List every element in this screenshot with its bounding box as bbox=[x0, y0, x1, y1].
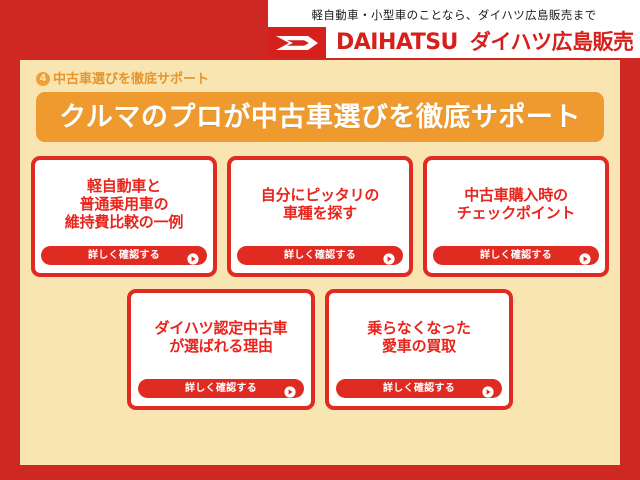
support-card[interactable]: 乗らなくなった 愛車の買取 詳しく確認する bbox=[325, 289, 513, 410]
support-card-title: 乗らなくなった 愛車の買取 bbox=[367, 297, 471, 377]
section-label-text: 中古車選びを徹底サポート bbox=[53, 73, 209, 86]
details-button-label: 詳しく確認する bbox=[383, 384, 455, 394]
brand-logo[interactable]: DAIHATSU ダイハツ広島販売 bbox=[268, 27, 640, 58]
play-circle-icon bbox=[482, 383, 494, 395]
play-circle-icon bbox=[187, 250, 199, 262]
support-card-title: 自分にピッタリの 車種を探す bbox=[261, 164, 379, 244]
play-circle-icon bbox=[383, 250, 395, 262]
details-button[interactable]: 詳しく確認する bbox=[41, 246, 207, 265]
play-circle-icon bbox=[284, 383, 296, 395]
section-number-badge: 4 bbox=[36, 72, 50, 86]
details-button-label: 詳しく確認する bbox=[480, 251, 552, 261]
card-row-primary: 軽自動車と 普通乗用車の 維持費比較の一例 詳しく確認する 自分にピッタリの 車… bbox=[34, 156, 606, 277]
support-card-title: 中古車購入時の チェックポイント bbox=[457, 164, 575, 244]
details-button[interactable]: 詳しく確認する bbox=[336, 379, 502, 398]
card-row-secondary: ダイハツ認定中古車 が選ばれる理由 詳しく確認する 乗らなくなった 愛車の買取 … bbox=[34, 289, 606, 410]
content-panel: 4 中古車選びを徹底サポート クルマのプロが中古車選びを徹底サポート 軽自動車と… bbox=[20, 60, 620, 465]
details-button[interactable]: 詳しく確認する bbox=[237, 246, 403, 265]
hero-banner: クルマのプロが中古車選びを徹底サポート bbox=[36, 92, 604, 142]
details-button[interactable]: 詳しく確認する bbox=[433, 246, 599, 265]
support-card[interactable]: 軽自動車と 普通乗用車の 維持費比較の一例 詳しく確認する bbox=[31, 156, 217, 277]
support-card[interactable]: 自分にピッタリの 車種を探す 詳しく確認する bbox=[227, 156, 413, 277]
hero-banner-text: クルマのプロが中古車選びを徹底サポート bbox=[59, 104, 581, 131]
details-button-label: 詳しく確認する bbox=[284, 251, 356, 261]
play-circle-icon bbox=[579, 250, 591, 262]
section-label: 4 中古車選びを徹底サポート bbox=[34, 68, 606, 92]
support-card[interactable]: ダイハツ認定中古車 が選ばれる理由 詳しく確認する bbox=[127, 289, 315, 410]
daihatsu-d-emblem-icon bbox=[268, 27, 326, 58]
support-card-title: 軽自動車と 普通乗用車の 維持費比較の一例 bbox=[65, 164, 183, 244]
details-button[interactable]: 詳しく確認する bbox=[138, 379, 304, 398]
site-header: 軽自動車・小型車のことなら、ダイハツ広島販売まで DAIHATSU ダイハツ広島… bbox=[268, 0, 640, 58]
logo-dealer-name: ダイハツ広島販売 bbox=[458, 32, 634, 53]
details-button-label: 詳しく確認する bbox=[185, 384, 257, 394]
support-card[interactable]: 中古車購入時の チェックポイント 詳しく確認する bbox=[423, 156, 609, 277]
support-card-title: ダイハツ認定中古車 が選ばれる理由 bbox=[155, 297, 288, 377]
header-tagline: 軽自動車・小型車のことなら、ダイハツ広島販売まで bbox=[268, 0, 640, 27]
logo-wordmark: DAIHATSU bbox=[326, 32, 458, 54]
details-button-label: 詳しく確認する bbox=[88, 251, 160, 261]
